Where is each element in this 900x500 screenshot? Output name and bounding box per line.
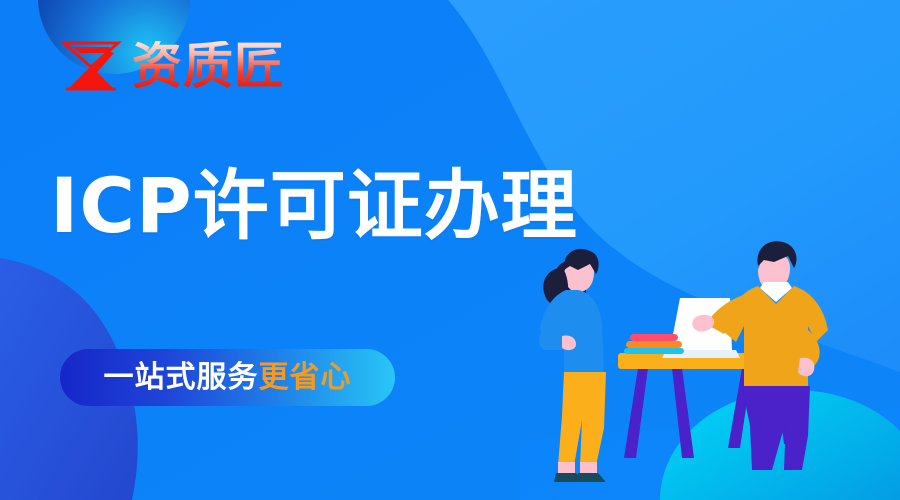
promo-banner: 资质匠 ICP许可证办理 一站式服务更省心 [0, 0, 900, 500]
brand-logo-text: 资质匠 [132, 41, 285, 91]
brand-logo[interactable]: 资质匠 [58, 33, 285, 99]
desk-leg [624, 368, 648, 458]
desk-leg [672, 368, 694, 458]
book-middle [626, 341, 682, 348]
z-hourglass-mark-icon [58, 33, 124, 99]
book-bottom [624, 348, 684, 354]
book-stack [624, 334, 684, 354]
subtitle-main-text: 一站式服务 [104, 363, 259, 393]
book-top [630, 334, 678, 341]
hero-illustration [520, 230, 900, 500]
page-title: ICP许可证办理 [50, 168, 578, 244]
illustration-people-desk [520, 230, 900, 500]
subtitle-accent-text: 更省心 [259, 363, 352, 393]
woman-figure [539, 249, 606, 482]
subtitle-badge: 一站式服务更省心 [60, 349, 395, 406]
